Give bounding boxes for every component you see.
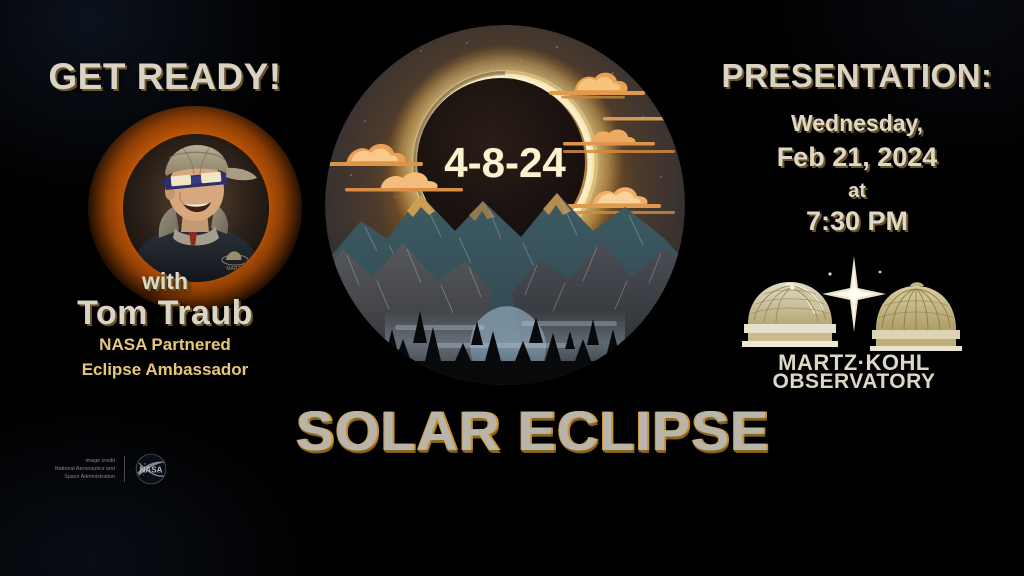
credit-line-3: Space Administration <box>18 473 115 481</box>
credit-line-2: National Aeronautics and <box>18 465 115 473</box>
left-column: GET READY! <box>0 0 330 500</box>
eclipse-presentation-poster: GET READY! <box>0 0 1024 576</box>
credit-line-1: image credit <box>18 457 115 465</box>
eclipse-date-overlay: 4-8-24 <box>325 25 685 385</box>
event-time: 7:30 PM <box>690 206 1024 237</box>
eclipse-date-text: 4-8-24 <box>444 139 566 186</box>
nasa-image-credit: image credit National Aeronautics and Sp… <box>18 452 168 486</box>
nasa-wordmark: NASA <box>140 465 163 474</box>
observatory-logo: MARTZ·KOHL OBSERVATORY <box>734 252 974 390</box>
credit-text-block: image credit National Aeronautics and Sp… <box>18 457 115 481</box>
observatory-logo-illustration: MARTZ·KOHL OBSERVATORY <box>734 252 974 390</box>
speaker-portrait: MARTZ <box>110 126 280 291</box>
credit-divider <box>124 456 125 482</box>
with-label: with <box>0 268 330 295</box>
left-dome <box>742 282 838 347</box>
eclipse-emblem: 4-8-24 <box>325 25 685 385</box>
event-at-label: at <box>690 180 1024 203</box>
get-ready-headline: GET READY! <box>0 56 330 98</box>
speaker-role-line-1: NASA Partnered <box>0 335 330 355</box>
event-day: Wednesday, <box>690 110 1024 137</box>
observatory-name-line-2: OBSERVATORY <box>772 370 935 390</box>
speaker-role-line-2: Eclipse Ambassador <box>0 360 330 380</box>
speaker-name: Tom Traub <box>0 294 330 333</box>
right-dome <box>870 282 962 351</box>
event-date: Feb 21, 2024 <box>690 142 1024 173</box>
right-column: PRESENTATION: Wednesday, Feb 21, 2024 at… <box>690 0 1024 500</box>
portrait-illustration: MARTZ <box>123 134 269 282</box>
nasa-logo-icon: NASA <box>134 452 168 486</box>
portrait-disc: MARTZ <box>123 134 269 282</box>
presentation-label: PRESENTATION: <box>690 57 1024 95</box>
solar-eclipse-title: SOLAR ECLIPSE <box>296 398 714 463</box>
